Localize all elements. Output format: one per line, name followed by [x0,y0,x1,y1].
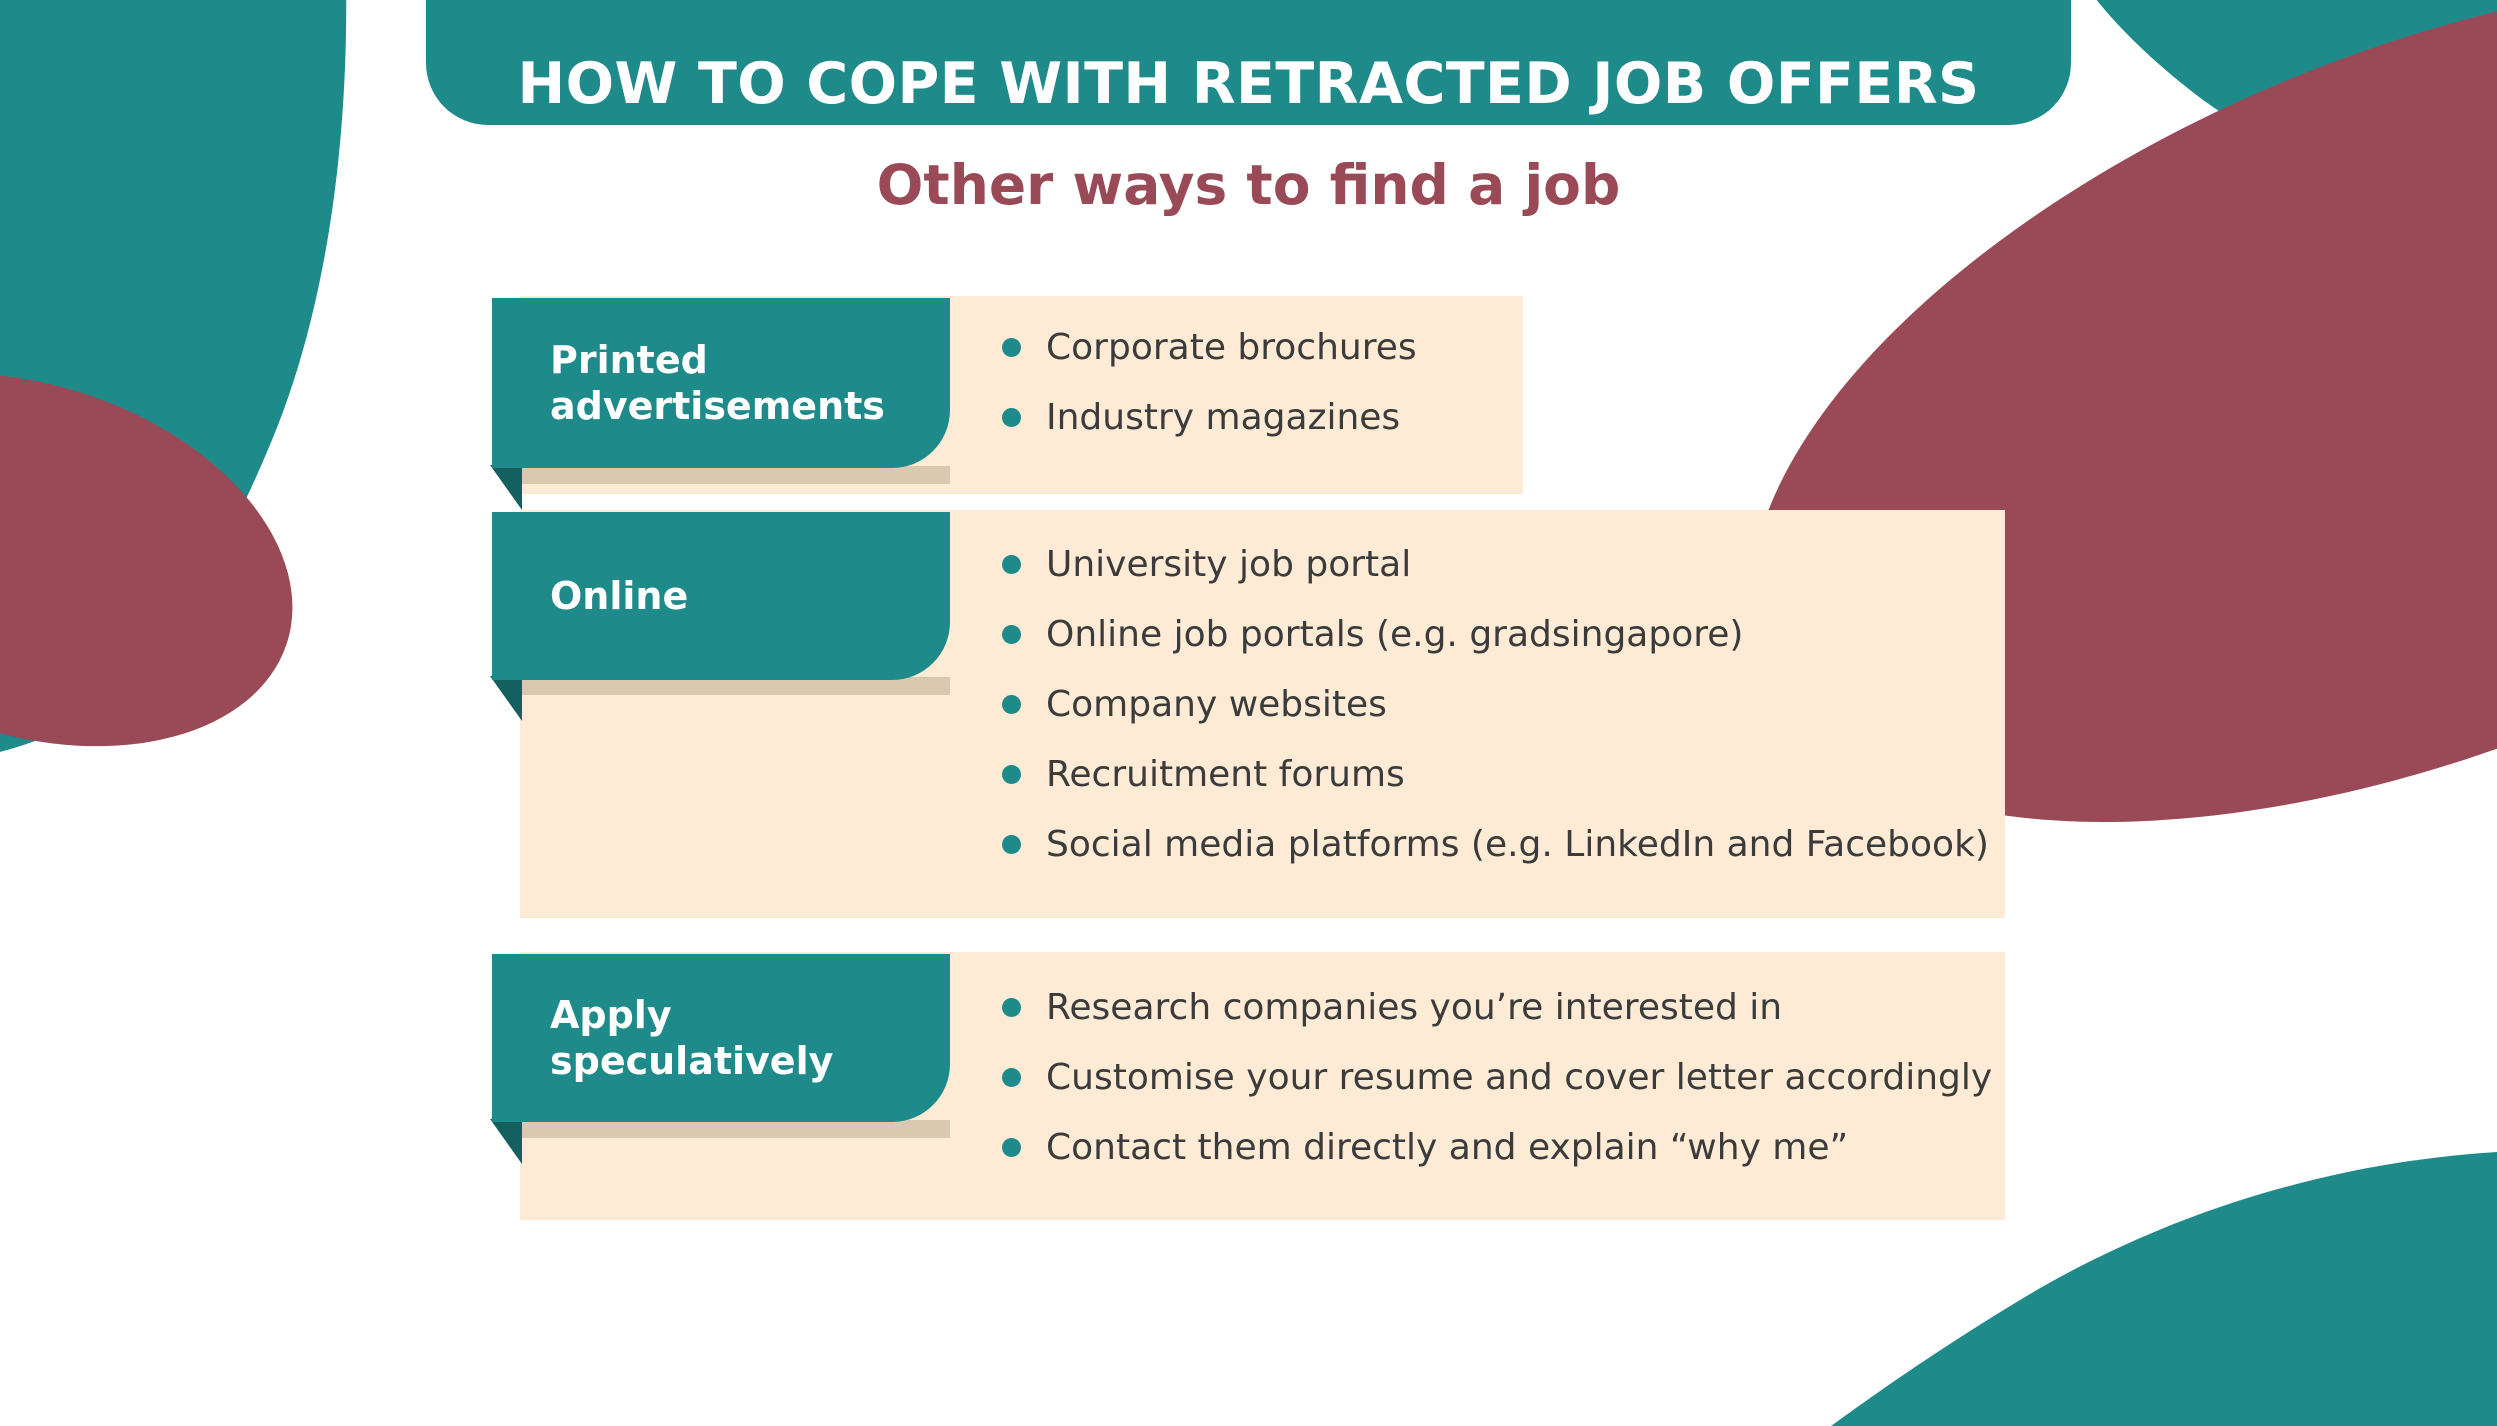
bullet-dot-icon [1002,1068,1021,1087]
header-bar: HOW TO COPE WITH RETRACTED JOB OFFERS [426,0,2071,125]
block-tab-label-3-line2: speculatively [550,1038,833,1084]
block-tab-label-2: Online [550,573,688,619]
bullet-text: Company websites [1046,682,1387,727]
tab-corner-1 [490,465,522,510]
bullet-dot-icon [1002,765,1021,784]
tab-shadow-strip-1 [510,466,950,484]
bullet-dot-icon [1002,998,1021,1017]
bullet-dot-icon [1002,338,1021,357]
block-bullets-3: Research companies you’re interested in … [1002,985,1992,1170]
tab-corner-2 [490,676,522,721]
bullet-text: Recruitment forums [1046,752,1405,797]
list-item: University job portal [1002,542,1989,587]
list-item: Research companies you’re interested in [1002,985,1992,1030]
block-tab-label-1-line2: advertisements [550,383,885,429]
bullet-text: Contact them directly and explain “why m… [1046,1125,1848,1170]
block-tab-3[interactable]: Apply speculatively [492,954,950,1122]
tab-corner-3 [490,1119,522,1164]
block-bullets-2: University job portal Online job portals… [1002,542,1989,867]
bullet-dot-icon [1002,555,1021,574]
bullet-dot-icon [1002,835,1021,854]
page-subtitle: Other ways to find a job [0,155,2497,216]
list-item: Customise your resume and cover letter a… [1002,1055,1992,1100]
page-title: HOW TO COPE WITH RETRACTED JOB OFFERS [518,56,1980,113]
block-tab-label-3: Apply speculatively [550,992,833,1085]
list-item: Recruitment forums [1002,752,1989,797]
list-item: Industry magazines [1002,395,1417,440]
block-tab-2[interactable]: Online [492,512,950,680]
block-tab-label-2-line1: Online [550,573,688,619]
list-item: Online job portals (e.g. gradsingapore) [1002,612,1989,657]
teal-blob-top-left-shape [0,0,346,760]
bullet-text: Research companies you’re interested in [1046,985,1782,1030]
teal-blob-top-right-shape [2060,0,2497,174]
tab-shadow-strip-3 [510,1120,950,1138]
bullet-text: Social media platforms (e.g. LinkedIn an… [1046,822,1989,867]
slide-canvas: HOW TO COPE WITH RETRACTED JOB OFFERS Ot… [0,0,2497,1426]
list-item: Social media platforms (e.g. LinkedIn an… [1002,822,1989,867]
list-item: Company websites [1002,682,1989,727]
bullet-text: Customise your resume and cover letter a… [1046,1055,1992,1100]
bullet-dot-icon [1002,695,1021,714]
bullet-text: Corporate brochures [1046,325,1417,370]
bullet-text: Online job portals (e.g. gradsingapore) [1046,612,1743,657]
bullet-dot-icon [1002,408,1021,427]
list-item: Contact them directly and explain “why m… [1002,1125,1992,1170]
maroon-ellipse-left-shape [0,310,341,810]
block-tab-1[interactable]: Printed advertisements [492,298,950,468]
bullet-text: Industry magazines [1046,395,1400,440]
block-bullets-1: Corporate brochures Industry magazines [1002,325,1417,440]
block-tab-label-1: Printed advertisements [550,337,885,430]
bullet-text: University job portal [1046,542,1411,587]
block-tab-label-1-line1: Printed [550,337,885,383]
block-tab-label-3-line1: Apply [550,992,833,1038]
list-item: Corporate brochures [1002,325,1417,370]
bullet-dot-icon [1002,625,1021,644]
bullet-dot-icon [1002,1138,1021,1157]
